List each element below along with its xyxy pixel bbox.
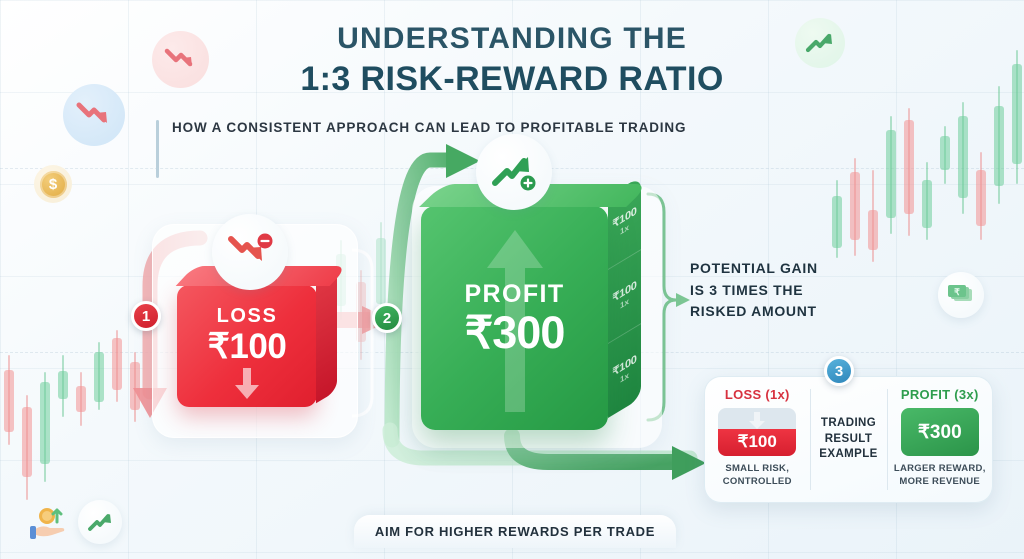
trend-down-icon [164, 47, 198, 73]
green-trend-up-circle [78, 500, 122, 544]
trend-up-icon [805, 31, 835, 55]
footer-text: AIM FOR HIGHER REWARDS PER TRADE [375, 524, 655, 539]
comparison-card: LOSS (1x) ₹100 SMALL RISK, CONTROLLED TR… [704, 376, 993, 503]
profit-amount: ₹300 [421, 306, 608, 359]
infographic-canvas: UNDERSTANDING THE 1:3 RISK-REWARD RATIO … [0, 0, 1024, 559]
dollar-coin-icon: $ [40, 171, 67, 198]
trend-down-icon [75, 100, 113, 130]
note-line-2: IS 3 TIMES THE [690, 280, 818, 302]
comparison-profit-note: LARGER REWARD, MORE REVENUE [894, 463, 986, 489]
loss-icon-circle [212, 214, 288, 290]
banknotes-circle: ₹ [938, 272, 984, 318]
banknotes-rupee-icon: ₹ [947, 284, 975, 306]
comparison-loss-chip[interactable]: ₹100 [718, 408, 796, 456]
note-line-1: POTENTIAL GAIN [690, 258, 818, 280]
candlestick-decor-left [0, 300, 160, 500]
comparison-loss-value: ₹100 [718, 432, 796, 456]
potential-gain-note: POTENTIAL GAIN IS 3 TIMES THE RISKED AMO… [690, 258, 818, 323]
loss-amount: ₹100 [177, 327, 317, 367]
comparison-loss-heading: LOSS (1x) [725, 387, 790, 402]
comparison-profit-heading: PROFIT (3x) [901, 387, 979, 402]
trend-up-icon [490, 153, 538, 191]
profit-icon-circle [476, 134, 552, 210]
blue-trend-down-circle [63, 84, 125, 146]
gold-coin-circle: $ [34, 165, 72, 203]
loss-label: LOSS [177, 305, 317, 328]
footer-banner: AIM FOR HIGHER REWARDS PER TRADE [354, 515, 676, 548]
hand-coin-icon [28, 504, 72, 540]
comparison-middle-label: TRADING RESULT EXAMPLE [819, 416, 877, 463]
profit-label: PROFIT [421, 280, 608, 309]
trend-down-icon [226, 233, 274, 271]
mint-trend-up-circle [795, 18, 845, 68]
step-badge-1[interactable]: 1 [131, 301, 161, 331]
comparison-divider-middle: TRADING RESULT EXAMPLE [810, 389, 888, 490]
trend-up-icon [87, 512, 113, 533]
comparison-loss-column: LOSS (1x) ₹100 SMALL RISK, CONTROLLED [705, 377, 810, 502]
down-arrow-icon [747, 412, 767, 430]
subtitle-accent-bar [156, 120, 159, 178]
note-line-3: RISKED AMOUNT [690, 301, 818, 323]
comparison-profit-value: ₹300 [918, 421, 962, 444]
profit-box[interactable]: PROFIT ₹300 [421, 206, 608, 430]
svg-text:₹: ₹ [954, 287, 960, 297]
subtitle: HOW A CONSISTENT APPROACH CAN LEAD TO PR… [172, 118, 686, 139]
step-badge-2[interactable]: 2 [372, 303, 402, 333]
comparison-profit-column: PROFIT (3x) ₹300 LARGER REWARD, MORE REV… [888, 377, 993, 502]
profit-stack-side: ₹100 1x ₹100 1x ₹100 1x [608, 176, 641, 418]
step-badge-3[interactable]: 3 [824, 356, 854, 386]
comparison-loss-note: SMALL RISK, CONTROLLED [723, 463, 792, 489]
loss-box[interactable]: LOSS ₹100 [177, 285, 317, 407]
pink-trend-down-circle [152, 31, 209, 88]
comparison-profit-chip[interactable]: ₹300 [901, 408, 979, 456]
down-arrow-icon [232, 368, 262, 400]
